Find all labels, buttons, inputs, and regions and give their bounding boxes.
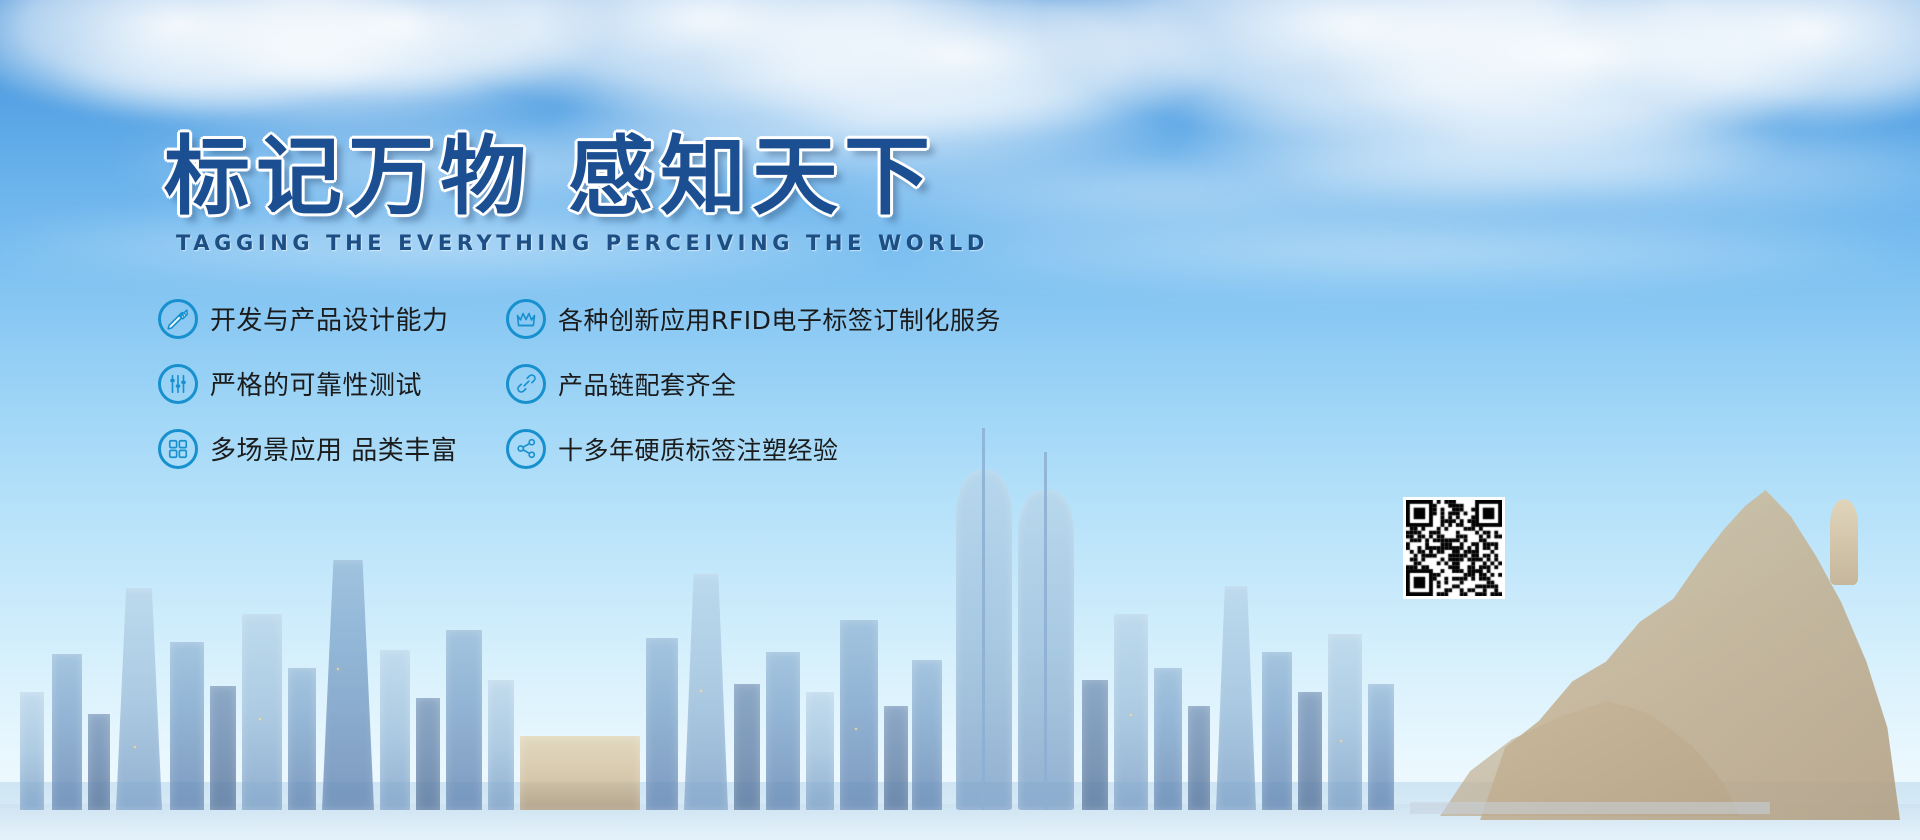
pier — [1410, 802, 1770, 814]
feature-label: 开发与产品设计能力 — [210, 300, 449, 337]
rock-hill-back — [1440, 656, 1740, 816]
feature-label: 多场景应用 品类丰富 — [210, 430, 457, 467]
rock-hill-front — [1480, 490, 1900, 820]
feature-label: 产品链配套齐全 — [558, 366, 737, 402]
feature-column-left: 开发与产品设计能力 严格的可靠性测试 — [158, 286, 508, 481]
feature-item[interactable]: 十多年硬质标签注塑经验 — [506, 416, 1066, 481]
qr-code[interactable] — [1403, 497, 1505, 599]
feature-label: 各种创新应用RFID电子标签订制化服务 — [558, 301, 1001, 337]
feature-item[interactable]: 产品链配套齐全 — [506, 351, 1066, 416]
crown-icon — [506, 299, 546, 339]
promo-banner: 标记万物 感知天下 TAGGING THE EVERYTHING PERCEIV… — [0, 0, 1920, 840]
pencil-ruler-icon — [158, 299, 198, 339]
link-chain-icon — [506, 364, 546, 404]
feature-item[interactable]: 多场景应用 品类丰富 — [158, 416, 508, 481]
grid-squares-icon — [158, 429, 198, 469]
sliders-icon — [158, 364, 198, 404]
feature-column-right: 各种创新应用RFID电子标签订制化服务 产品链配套齐全 — [506, 286, 1066, 481]
feature-label: 严格的可靠性测试 — [210, 365, 422, 402]
feature-label: 十多年硬质标签注塑经验 — [558, 431, 839, 467]
statue — [1830, 499, 1858, 585]
city-skyline-illustration — [0, 420, 1920, 840]
feature-item[interactable]: 各种创新应用RFID电子标签订制化服务 — [506, 286, 1066, 351]
share-nodes-icon — [506, 429, 546, 469]
page-subtitle: TAGGING THE EVERYTHING PERCEIVING THE WO… — [176, 231, 989, 255]
page-title: 标记万物 感知天下 — [164, 132, 936, 223]
waterfront — [0, 782, 1920, 840]
feature-item[interactable]: 严格的可靠性测试 — [158, 351, 508, 416]
feature-item[interactable]: 开发与产品设计能力 — [158, 286, 508, 351]
ground-strip — [0, 804, 1920, 840]
